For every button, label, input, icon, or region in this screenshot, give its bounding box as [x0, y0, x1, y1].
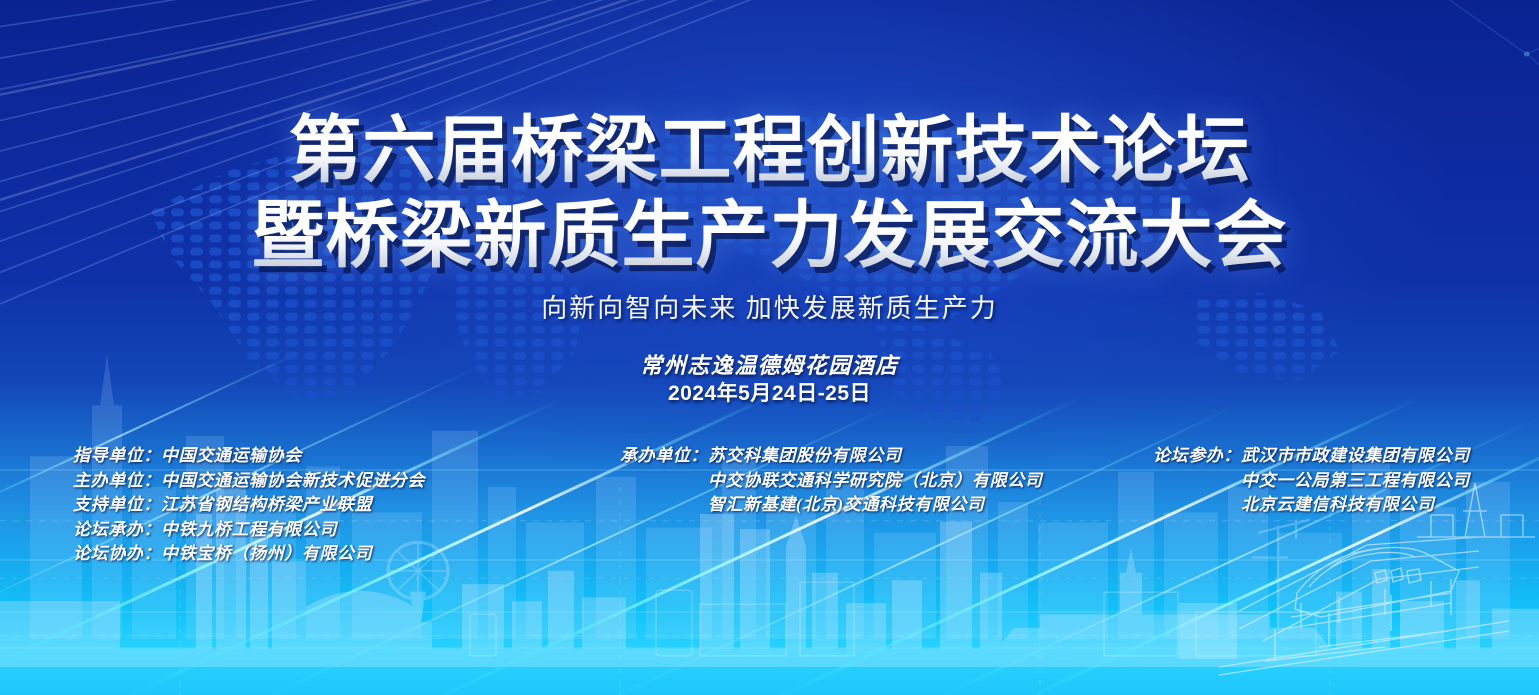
- organizer-line: 指导单位： 中国交通运输协会: [73, 444, 425, 469]
- organizer-value: 中国交通运输协会新技术促进分会: [161, 469, 425, 494]
- organizer-line: 论坛承办： 中铁九桥工程有限公司: [73, 518, 425, 543]
- organizer-line: 论坛协办： 中铁宝桥（扬州）有限公司: [73, 542, 425, 567]
- organizer-line: 承办单位： 智汇新基建(北京)交通科技有限公司: [620, 493, 1042, 518]
- organizer-column-left: 指导单位： 中国交通运输协会 主办单位： 中国交通运输协会新技术促进分会 支持单…: [73, 444, 425, 567]
- organizer-value: 北京云建信科技有限公司: [1241, 493, 1435, 518]
- organizer-line: 论坛参办： 武汉市市政建设集团有限公司: [1153, 444, 1470, 469]
- organizer-label: 论坛协办：: [73, 542, 161, 567]
- organizer-label: 支持单位：: [73, 493, 161, 518]
- organizer-value: 苏交科集团股份有限公司: [708, 444, 902, 469]
- organizer-value: 武汉市市政建设集团有限公司: [1241, 444, 1470, 469]
- organizer-value: 中交一公局第三工程有限公司: [1241, 469, 1470, 494]
- organizer-column-right: 论坛参办： 武汉市市政建设集团有限公司 论坛参办： 中交一公局第三工程有限公司 …: [1153, 444, 1470, 518]
- organizer-label: 指导单位：: [73, 444, 161, 469]
- organizer-value: 中国交通运输协会: [161, 444, 302, 469]
- organizer-line: 主办单位： 中国交通运输协会新技术促进分会: [73, 469, 425, 494]
- organizer-value: 中铁宝桥（扬州）有限公司: [161, 542, 372, 567]
- title-line-2: 暨桥梁新质生产力发展交流大会: [0, 193, 1539, 278]
- organizers-section: 指导单位： 中国交通运输协会 主办单位： 中国交通运输协会新技术促进分会 支持单…: [0, 444, 1539, 574]
- organizer-line: 论坛参办： 中交一公局第三工程有限公司: [1153, 469, 1470, 494]
- event-date: 2024年5月24日-25日: [0, 380, 1539, 407]
- banner-content: 第六届桥梁工程创新技术论坛 暨桥梁新质生产力发展交流大会 向新向智向未来 加快发…: [0, 0, 1539, 695]
- conference-banner: 第六届桥梁工程创新技术论坛 暨桥梁新质生产力发展交流大会 向新向智向未来 加快发…: [0, 0, 1539, 695]
- organizer-line: 论坛参办： 北京云建信科技有限公司: [1153, 493, 1470, 518]
- organizer-line: 支持单位： 江苏省钢结构桥梁产业联盟: [73, 493, 425, 518]
- venue-name: 常州志逸温德姆花园酒店: [0, 352, 1539, 380]
- venue-date-block: 常州志逸温德姆花园酒店 2024年5月24日-25日: [0, 352, 1539, 407]
- title-line-1: 第六届桥梁工程创新技术论坛: [0, 108, 1539, 193]
- organizer-line: 承办单位： 苏交科集团股份有限公司: [620, 444, 1042, 469]
- organizer-label: 论坛参办：: [1153, 444, 1241, 469]
- organizer-line: 承办单位： 中交协联交通科学研究院（北京）有限公司: [620, 469, 1042, 494]
- organizer-value: 智汇新基建(北京)交通科技有限公司: [708, 493, 985, 518]
- organizer-value: 中交协联交通科学研究院（北京）有限公司: [708, 469, 1042, 494]
- organizer-column-middle: 承办单位： 苏交科集团股份有限公司 承办单位： 中交协联交通科学研究院（北京）有…: [620, 444, 1042, 518]
- organizer-label: 论坛承办：: [73, 518, 161, 543]
- organizer-value: 中铁九桥工程有限公司: [161, 518, 337, 543]
- organizer-label: 主办单位：: [73, 469, 161, 494]
- organizer-label: 承办单位：: [620, 444, 708, 469]
- main-title: 第六届桥梁工程创新技术论坛 暨桥梁新质生产力发展交流大会: [0, 108, 1539, 278]
- organizer-value: 江苏省钢结构桥梁产业联盟: [161, 493, 372, 518]
- subtitle-slogan: 向新向智向未来 加快发展新质生产力: [0, 292, 1539, 326]
